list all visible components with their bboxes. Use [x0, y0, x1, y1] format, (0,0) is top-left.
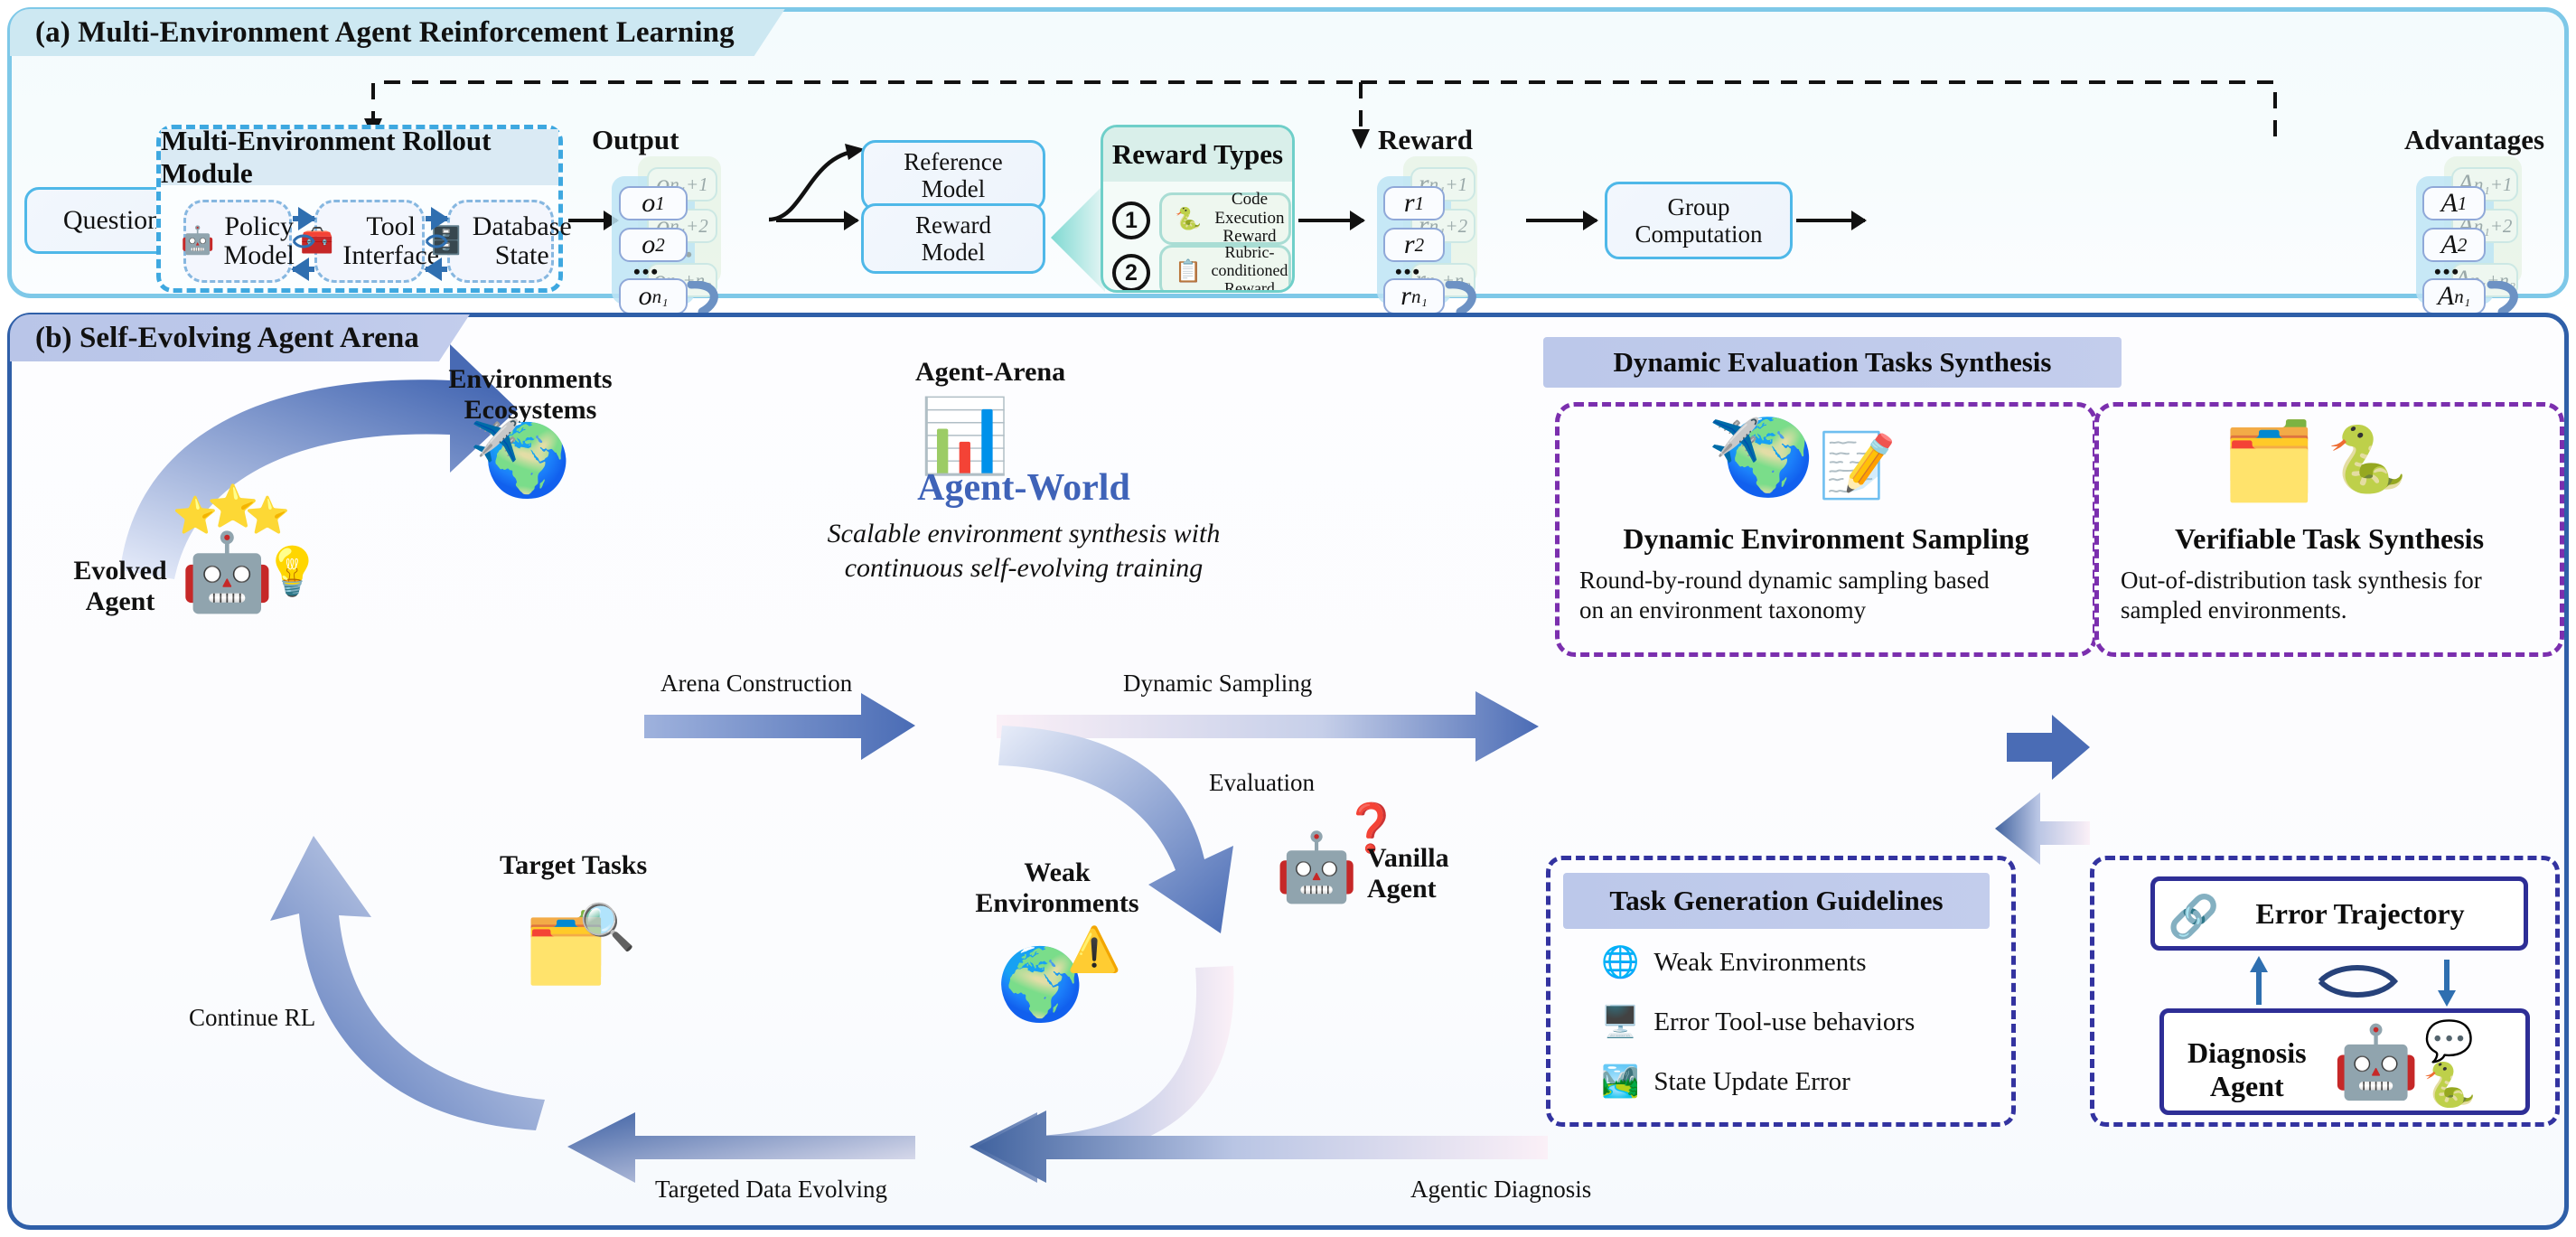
agent-world-center: Agent-World Scalable environment synthes…	[698, 466, 1349, 585]
arrow-reward-to-group-computation	[1526, 219, 1597, 222]
arrow-database-to-tool	[426, 267, 447, 272]
module-policy-model: 🤖 Policy Model	[183, 200, 292, 283]
diagnosis-agent-label: DiagnosisAgent	[2187, 1036, 2307, 1103]
plane-icon: ✈️	[1710, 419, 1761, 461]
agent-world-title: Agent-World	[698, 466, 1349, 510]
reward-card: rn₁	[1383, 278, 1445, 314]
magnifier-icon: 🔍	[579, 904, 635, 950]
rollout-module-header: Multi-Environment Rollout Module	[161, 129, 558, 185]
code-window-icon: 🖥️	[1601, 1007, 1639, 1037]
python-icon: 🐍	[1175, 208, 1202, 230]
output-card: o2	[619, 228, 688, 262]
exchange-icon-tool-database	[424, 231, 449, 251]
warning-triangle-icon: ⚠️	[1067, 928, 1121, 971]
arrow-group-computation-to-advantages	[1796, 219, 1865, 222]
dynamic-environment-sampling-title: Dynamic Environment Sampling	[1560, 522, 2093, 556]
output-card: on₁	[619, 278, 688, 314]
task-generation-guidelines-panel: Task Generation Guidelines 🌐 Weak Enviro…	[1546, 856, 2016, 1127]
arrow-output-to-reward-model	[776, 219, 857, 222]
robot-icon: 🤖	[181, 228, 214, 255]
globe-grid-icon: 🌐	[1601, 947, 1639, 978]
arrow-reward-types-to-reward	[1298, 219, 1363, 222]
agent-world-subtitle: Scalable environment synthesis withconti…	[698, 517, 1349, 585]
lightbulb-icon: 💡	[263, 548, 322, 595]
gear-checklist-pencil-icon: 📝	[1818, 434, 1897, 497]
reward-type-code-execution: 🐍 Code ExecutionReward	[1159, 192, 1291, 245]
reference-model-box: ReferenceModel	[861, 140, 1045, 211]
multi-environment-rollout-module: Multi-Environment Rollout Module 🤖 Polic…	[156, 125, 563, 293]
task-generation-guidelines-header: Task Generation Guidelines	[1563, 873, 1990, 929]
reward-type-rubric-conditioned: 📋 Rubric-conditionedReward	[1159, 245, 1291, 293]
verifiable-task-synthesis-card: 🗂️ 🐍 Verifiable Task Synthesis Out-of-di…	[2094, 402, 2564, 657]
dynamic-environment-sampling-card: 🌍 ✈️ 📝 Dynamic Environment Sampling Roun…	[1555, 402, 2097, 657]
label-agent-arena: Agent-Arena	[915, 357, 1065, 388]
teal-chevron-icon	[1042, 183, 1105, 292]
rubric-clipboard-icon: 📋	[1175, 260, 1202, 282]
arrow-policy-to-tool	[293, 216, 314, 221]
arrow-tool-to-database	[426, 216, 447, 221]
python-graph-icon: 🐍	[2327, 426, 2408, 492]
label-environments-ecosystems: EnvironmentsEcosystems	[440, 364, 621, 426]
dynamic-environment-sampling-desc: Round-by-round dynamic sampling basedon …	[1579, 566, 2085, 625]
label-evaluation: Evaluation	[1209, 769, 1315, 797]
advantages-card: An₁	[2422, 278, 2486, 314]
guideline-error-tool-use-behaviors: 🖥️ Error Tool-use behaviors	[1601, 1007, 1915, 1037]
module-database-state: 🗄️ Database State	[447, 200, 554, 283]
label-weak-environments: WeakEnvironments	[953, 857, 1161, 919]
trajectory-graph-icon: 🔗	[2168, 895, 2219, 937]
folder-check-docs-icon: 🗂️	[2222, 423, 2317, 499]
output-card-stack: on₁+1 on₁+2 ••• on₁+n₂ o1 o2 ••• on₁	[599, 156, 771, 301]
reward-types-header: Reward Types	[1103, 127, 1292, 182]
label-arena-construction: Arena Construction	[660, 670, 852, 698]
panel-a-multi-environment-agent-rl: (a) Multi-Environment Agent Reinforcemen…	[7, 7, 2569, 298]
advantages-card: A2	[2422, 228, 2486, 262]
label-continue-rl: Continue RL	[189, 1004, 315, 1032]
reward-type-number-1: 1	[1112, 201, 1150, 239]
reward-type-number-2: 2	[1112, 254, 1150, 292]
reward-card: r2	[1383, 228, 1445, 262]
check-cross-bubbles-icon: 💬	[2424, 1022, 2474, 1062]
reward-model-box: RewardModel	[861, 203, 1045, 274]
verifiable-task-synthesis-desc: Out-of-distribution task synthesis forsa…	[2121, 566, 2545, 625]
arrow-tool-to-policy	[293, 267, 314, 272]
module-tool-interface: 🧰 Tool Interface	[314, 200, 425, 283]
advantages-title: Advantages	[2404, 124, 2544, 156]
reward-card: r1	[1383, 186, 1445, 220]
panel-b-title: (b) Self-Evolving Agent Arena	[10, 314, 470, 361]
image-mountain-icon: 🏞️	[1601, 1066, 1639, 1097]
label-dynamic-sampling: Dynamic Sampling	[1123, 670, 1312, 698]
chart-monitor-icon: 📊	[920, 400, 1010, 473]
group-computation-box: GroupComputation	[1605, 182, 1793, 259]
label-agentic-diagnosis: Agentic Diagnosis	[1410, 1176, 1591, 1204]
diagnosis-agent-box: DiagnosisAgent 🤖 💬 🐍	[2159, 1008, 2530, 1115]
advantages-card: A1	[2422, 186, 2486, 220]
verifiable-task-synthesis-title: Verifiable Task Synthesis	[2099, 522, 2560, 556]
output-card: o1	[619, 186, 688, 220]
label-evolved-agent: EvolvedAgent	[57, 556, 183, 617]
label-targeted-data-evolving: Targeted Data Evolving	[655, 1176, 887, 1204]
reward-title: Reward	[1378, 124, 1473, 156]
error-trajectory-label: Error Trajectory	[2255, 897, 2464, 931]
advantages-card-stack: An₁+1 An₁+2 An₁+n₂ A1 A2 ••• An₁	[2406, 156, 2564, 301]
panel-a-title: (a) Multi-Environment Agent Reinforcemen…	[10, 9, 785, 56]
label-vanilla-agent: VanillaAgent	[1367, 843, 1449, 904]
diagnosis-panel: 🔗 Error Trajectory DiagnosisAgent 🤖 💬 🐍	[2090, 856, 2560, 1127]
label-target-tasks: Target Tasks	[500, 850, 647, 881]
robot-icon: 🤖	[180, 534, 275, 610]
dynamic-evaluation-tasks-synthesis-header: Dynamic Evaluation Tasks Synthesis	[1543, 337, 2122, 388]
output-title: Output	[592, 124, 679, 156]
exchange-icon-policy-tool	[291, 231, 316, 251]
plane-icon: ✈️	[471, 422, 520, 462]
diagnosis-exchange-arrows	[2230, 954, 2474, 1008]
error-trajectory-box: 🔗 Error Trajectory	[2150, 876, 2528, 951]
python-inspect-icon: 🐍	[2422, 1064, 2477, 1107]
panel-b-self-evolving-agent-arena: (b) Self-Evolving Agent Arena	[7, 313, 2569, 1230]
robot-icon: 🤖	[2332, 1027, 2420, 1098]
guideline-state-update-error: 🏞️ State Update Error	[1601, 1066, 1850, 1097]
reward-card-stack: rn₁+1 rn₁+2 rn₁+n₂ r1 r2 ••• rn₁	[1367, 156, 1521, 301]
reward-types-panel: Reward Types 1 🐍 Code ExecutionReward 2 …	[1101, 125, 1295, 293]
guideline-weak-environments: 🌐 Weak Environments	[1601, 947, 1867, 978]
